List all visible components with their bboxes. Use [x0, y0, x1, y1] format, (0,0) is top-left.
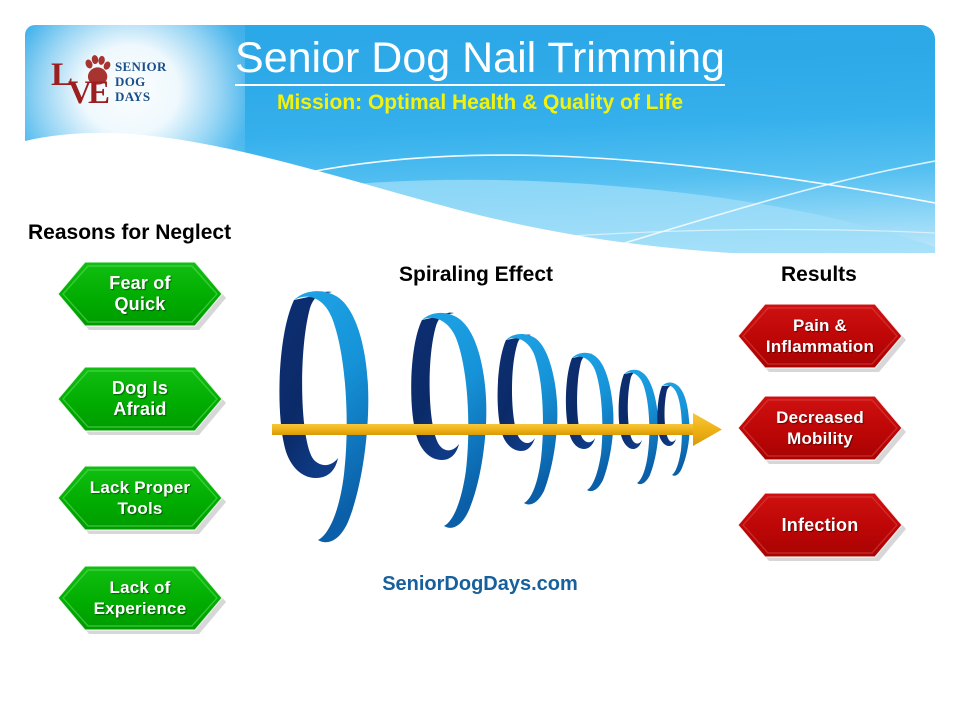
- result-hexagon-decreased-mobility[interactable]: Decreased Mobility: [735, 392, 905, 464]
- spiral-coil-3: [498, 334, 558, 504]
- reason-label-line-2: Experience: [94, 598, 187, 619]
- result-label-line-2: Inflammation: [766, 336, 874, 357]
- result-label: Pain & Inflammation: [735, 300, 905, 372]
- header-banner: L V E SENIOR DOG DAYS Senior Dog Nail Tr…: [25, 25, 935, 253]
- reason-label-line-2: Afraid: [113, 399, 166, 420]
- spiral-coil-4: [566, 353, 614, 491]
- column-heading-reasons: Reasons for Neglect: [28, 221, 231, 245]
- reason-label: Dog Is Afraid: [55, 363, 225, 435]
- page-title-text: Senior Dog Nail Trimming: [235, 34, 725, 86]
- reason-label-line-2: Tools: [117, 498, 162, 519]
- footer-website-url[interactable]: SeniorDogDays.com: [0, 573, 960, 596]
- reason-label-line-1: Dog Is: [112, 378, 168, 399]
- spiral-coil-1: [279, 291, 368, 542]
- reason-label-line-1: Fear of: [109, 273, 170, 294]
- result-hexagon-pain-inflammation[interactable]: Pain & Inflammation: [735, 300, 905, 372]
- reason-hexagon-lack-proper-tools[interactable]: Lack Proper Tools: [55, 462, 225, 534]
- page-subtitle: Mission: Optimal Health & Quality of Lif…: [25, 91, 935, 115]
- reason-label: Lack Proper Tools: [55, 462, 225, 534]
- result-label-line-2: Mobility: [787, 428, 853, 449]
- reason-label: Fear of Quick: [55, 258, 225, 330]
- result-label-line-1: Pain &: [793, 315, 847, 336]
- spiral-coil-2: [411, 313, 486, 528]
- reason-label-line-1: Lack Proper: [90, 477, 190, 498]
- infographic-slide: L V E SENIOR DOG DAYS Senior Dog Nail Tr…: [0, 0, 960, 720]
- result-label: Infection: [735, 489, 905, 561]
- page-title: Senior Dog Nail Trimming: [25, 31, 935, 85]
- reason-hexagon-fear-of-quick[interactable]: Fear of Quick: [55, 258, 225, 330]
- spiral-ribbon-graphic: [270, 282, 730, 547]
- reason-label-line-2: Quick: [114, 294, 165, 315]
- result-label-line-1: Infection: [782, 515, 859, 536]
- column-heading-results: Results: [781, 263, 857, 287]
- result-hexagon-infection[interactable]: Infection: [735, 489, 905, 561]
- reason-hexagon-dog-is-afraid[interactable]: Dog Is Afraid: [55, 363, 225, 435]
- result-label: Decreased Mobility: [735, 392, 905, 464]
- result-label-line-1: Decreased: [776, 407, 864, 428]
